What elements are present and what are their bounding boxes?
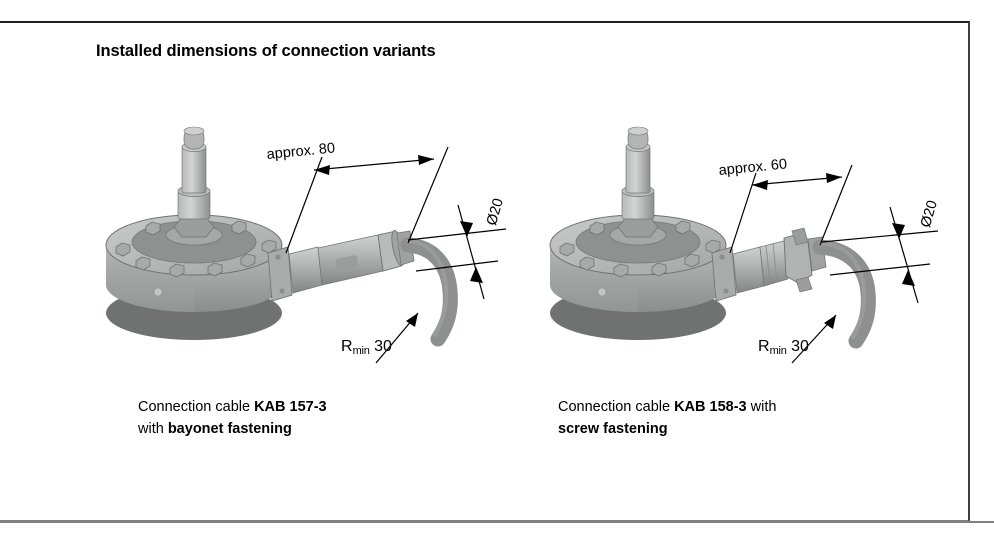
- caption-line-2: with bayonet fastening: [138, 418, 327, 440]
- caption-part-number: KAB 158-3: [674, 399, 747, 415]
- caption-line-2: screw fastening: [558, 418, 776, 440]
- caption-part-number: KAB 157-3: [254, 399, 327, 415]
- bend-radius-subscript: min: [353, 345, 370, 357]
- caption-text: Connection cable: [138, 399, 254, 415]
- bend-radius-subscript: min: [770, 345, 787, 357]
- diagram-screw-variant: approx. 60 Ø20 Rmin 30: [530, 95, 994, 395]
- caption-screw-variant: Connection cable KAB 158-3 with screw fa…: [558, 396, 776, 440]
- load-cell-body: [106, 127, 282, 340]
- bend-radius-prefix: R: [758, 338, 770, 355]
- caption-bayonet-variant: Connection cable KAB 157-3 with bayonet …: [138, 396, 327, 440]
- caption-line-1: Connection cable KAB 157-3: [138, 396, 327, 418]
- bend-radius-value: 30: [374, 338, 392, 355]
- caption-line-1: Connection cable KAB 158-3 with: [558, 396, 776, 418]
- caption-fastening-type: bayonet fastening: [168, 421, 292, 437]
- bend-radius-label-screw: Rmin 30: [758, 338, 809, 357]
- bayonet-connector: [268, 229, 414, 301]
- cable-screw: [820, 247, 868, 341]
- diagram-bayonet-variant: approx. 80 Ø20 Rmin 30: [86, 95, 556, 395]
- caption-text: with: [138, 421, 168, 437]
- bend-radius-value: 30: [791, 338, 809, 355]
- bend-radius-prefix: R: [341, 338, 353, 355]
- screw-connector: [712, 228, 826, 301]
- caption-text-suffix: with: [747, 399, 777, 415]
- stud-hex-nut: [174, 217, 214, 237]
- load-cell-body: [550, 127, 726, 340]
- caption-fastening-type: screw fastening: [558, 421, 668, 437]
- stud-hex-nut: [618, 217, 658, 237]
- figure-title: Installed dimensions of connection varia…: [96, 42, 436, 61]
- bend-radius-label-bayonet: Rmin 30: [341, 338, 392, 357]
- bayonet-drawing-svg: [86, 95, 556, 395]
- bottom-divider-rule: [0, 521, 994, 523]
- caption-text: Connection cable: [558, 399, 674, 415]
